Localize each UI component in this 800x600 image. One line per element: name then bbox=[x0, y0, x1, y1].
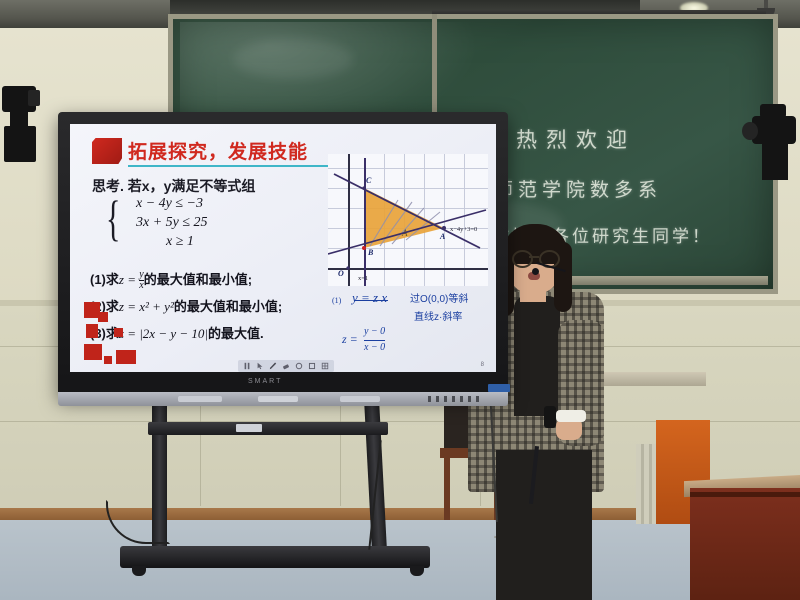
bezel-indicator bbox=[488, 384, 510, 392]
bezel-badge bbox=[340, 396, 380, 402]
classroom-scene: 热烈欢迎 肥师范学院数多系 斤全教授及各位研究生同学！ bbox=[0, 0, 800, 600]
origin-label: O bbox=[338, 269, 344, 278]
teacher-inner-top bbox=[514, 296, 560, 416]
stand-base bbox=[120, 546, 430, 568]
glasses-bridge bbox=[529, 256, 539, 258]
podium bbox=[690, 488, 800, 600]
inequality-2: 3x + 5y ≤ 25 bbox=[136, 215, 300, 231]
blackboard-line-1: 热烈欢迎 bbox=[516, 124, 636, 154]
camera-lens-icon bbox=[28, 90, 40, 106]
eraser-icon[interactable] bbox=[282, 362, 290, 370]
decoration-block bbox=[86, 324, 98, 338]
ink-annotation-1: (1) bbox=[332, 296, 341, 305]
question-1: (1)求z = yx的最大值和最小值; bbox=[90, 269, 252, 291]
ink-annotation-2: y = z x bbox=[352, 290, 387, 306]
slide-page-number: 8 bbox=[481, 362, 484, 368]
chalk-smudge bbox=[233, 39, 353, 79]
camera-lens-icon bbox=[742, 122, 758, 140]
camera-hood bbox=[760, 104, 786, 118]
stand-crossbar bbox=[148, 422, 388, 435]
question-1-suffix: 的最大值和最小值; bbox=[144, 272, 252, 287]
bezel-badge bbox=[178, 396, 222, 402]
slide-decoration-blocks bbox=[84, 302, 130, 372]
camera-body-icon bbox=[752, 116, 796, 144]
feasible-region-chart: A C B A bbox=[328, 154, 488, 286]
camera-mount bbox=[4, 126, 36, 162]
question-3-expr: z = |2x − y − 10| bbox=[119, 326, 208, 341]
title-underline bbox=[128, 165, 333, 167]
teacher-cuff bbox=[556, 410, 586, 422]
decoration-block bbox=[114, 328, 123, 337]
decoration-block bbox=[116, 350, 136, 364]
stand-caster bbox=[410, 566, 424, 576]
wall-camera-left bbox=[2, 58, 48, 162]
line-label-x-minus-4y: x−4y+3=0 bbox=[450, 226, 477, 233]
display-screen[interactable]: 拓展探究，发展技能 思考. 若x，y满足不等式组 { x − 4y ≤ −3 3… bbox=[70, 124, 496, 372]
square-icon[interactable] bbox=[308, 362, 316, 370]
ink-annotation-5: z = bbox=[342, 332, 358, 347]
inequality-1: x − 4y ≤ −3 bbox=[136, 196, 300, 212]
interactive-display[interactable]: 拓展探究，发展技能 思考. 若x，y满足不等式组 { x − 4y ≤ −3 3… bbox=[58, 112, 508, 397]
glasses-icon bbox=[512, 250, 533, 268]
stand-caster bbox=[132, 566, 146, 576]
inequality-3: x ≥ 1 bbox=[166, 234, 300, 250]
teacher-trousers bbox=[496, 450, 592, 600]
decoration-block bbox=[98, 312, 108, 322]
vertex-label-B: B bbox=[368, 248, 373, 257]
question-1-expr: z = bbox=[119, 272, 139, 287]
slide-title: 拓展探究，发展技能 bbox=[128, 137, 308, 164]
ink-annotation-7: x − 0 bbox=[364, 340, 385, 353]
vertex-label-A: A bbox=[440, 232, 445, 241]
inequality-system: x − 4y ≤ −3 3x + 5y ≤ 25 x ≥ 1 bbox=[110, 196, 300, 253]
title-decoration-icon bbox=[92, 138, 122, 164]
question-2-suffix: 的最大值和最小值; bbox=[174, 299, 282, 314]
vertex-label-C: C bbox=[366, 176, 371, 185]
question-3-suffix: 的最大值. bbox=[208, 326, 264, 341]
ink-underline bbox=[354, 300, 388, 301]
ink-annotation-4: 直线z·斜率 bbox=[414, 308, 462, 323]
decoration-block bbox=[104, 356, 112, 364]
constraint-lines bbox=[328, 154, 488, 286]
line-label-x-equals-1: x=1 bbox=[358, 275, 368, 282]
presenter-clicker-icon bbox=[544, 406, 556, 428]
wall-camera-right bbox=[740, 60, 798, 180]
circle-icon[interactable] bbox=[295, 362, 303, 370]
question-1-number: (1) bbox=[90, 272, 106, 287]
display-toolbar[interactable] bbox=[238, 360, 334, 372]
camera-mount bbox=[762, 144, 788, 180]
display-brand-label: SMART bbox=[248, 378, 282, 385]
cursor-icon[interactable] bbox=[256, 362, 264, 370]
ink-annotation-6: y − 0 bbox=[364, 326, 385, 337]
grid-icon[interactable] bbox=[321, 362, 329, 370]
pause-icon[interactable] bbox=[243, 362, 251, 370]
headset-mic-tip-icon bbox=[532, 268, 539, 275]
lesson-slide: 拓展探究，发展技能 思考. 若x，y满足不等式组 { x − 4y ≤ −3 3… bbox=[70, 124, 496, 372]
stand-control-box bbox=[236, 424, 262, 432]
decoration-block bbox=[84, 344, 102, 360]
bezel-brand-plate bbox=[258, 396, 298, 402]
pen-icon[interactable] bbox=[269, 362, 277, 370]
bezel-buttons[interactable] bbox=[428, 396, 484, 402]
podium-edge bbox=[690, 492, 800, 497]
display-chin bbox=[70, 374, 496, 390]
question-1-prefix: 求 bbox=[106, 272, 119, 287]
ink-annotation-3: 过O(0,0)等斜 bbox=[410, 290, 468, 305]
